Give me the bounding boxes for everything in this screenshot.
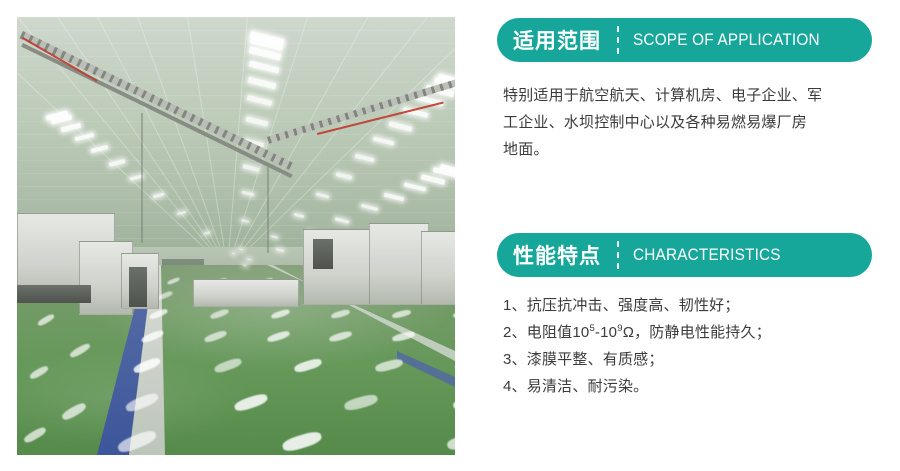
product-feature-panel: 适用范围 SCOPE OF APPLICATION 特别适用于航空航天、计算机房…: [0, 0, 900, 471]
paragraph-line: 地面。: [503, 136, 871, 163]
list-item: 2、电阻值105-109Ω，防静电性能持久；: [503, 319, 871, 346]
list-item: 4、易清洁、耐污染。: [503, 373, 871, 400]
support-pole-2: [267, 167, 269, 253]
list-item-text: 抗压抗冲击、强度高、韧性好；: [527, 297, 740, 314]
support-pole-1: [141, 113, 143, 243]
paragraph-line: 工企业、水坝控制中心以及各种易燃易爆厂房: [503, 109, 871, 136]
section-title-en-scope: SCOPE OF APPLICATION: [633, 31, 820, 50]
list-item-text-mid: -10: [595, 324, 617, 341]
banner-dashed-divider: [617, 26, 619, 54]
list-item-index: 3、: [503, 351, 527, 368]
list-item-index: 2、: [503, 324, 527, 341]
list-item: 3、漆膜平整、有质感；: [503, 346, 871, 373]
section-body-scope: 特别适用于航空航天、计算机房、电子企业、军 工企业、水坝控制中心以及各种易燃易爆…: [503, 82, 871, 163]
cleanroom-photo-canvas: [17, 17, 455, 455]
equipment-left-base: [17, 285, 91, 303]
section-title-cn-scope: 适用范围: [513, 25, 601, 55]
section-body-characteristics: 1、抗压抗冲击、强度高、韧性好； 2、电阻值105-109Ω，防静电性能持久； …: [503, 292, 871, 400]
section-title-cn-characteristics: 性能特点: [513, 240, 601, 270]
banner-dashed-divider: [617, 241, 619, 269]
equipment-center-stack: [129, 267, 147, 307]
list-item-text-prefix: 电阻值10: [527, 324, 590, 341]
cleanroom-photo: [17, 17, 455, 455]
equipment-right-panel: [313, 239, 333, 269]
list-item-text: 漆膜平整、有质感；: [527, 351, 664, 368]
section-header-characteristics: 性能特点 CHARACTERISTICS: [497, 233, 872, 277]
paragraph-line: 特别适用于航空航天、计算机房、电子企业、军: [503, 82, 871, 109]
section-title-en-characteristics: CHARACTERISTICS: [633, 246, 781, 265]
equipment-mid-row: [193, 279, 299, 307]
equipment-right-line-c: [421, 231, 455, 305]
list-item-index: 4、: [503, 378, 527, 395]
section-header-scope: 适用范围 SCOPE OF APPLICATION: [497, 18, 872, 62]
list-item: 1、抗压抗冲击、强度高、韧性好；: [503, 292, 871, 319]
equipment-right-line-b: [369, 223, 429, 305]
list-item-text-suffix: Ω，防静电性能持久；: [623, 324, 771, 341]
text-column: 适用范围 SCOPE OF APPLICATION 特别适用于航空航天、计算机房…: [497, 0, 877, 471]
list-item-text: 易清洁、耐污染。: [527, 378, 649, 395]
list-item-index: 1、: [503, 297, 527, 314]
